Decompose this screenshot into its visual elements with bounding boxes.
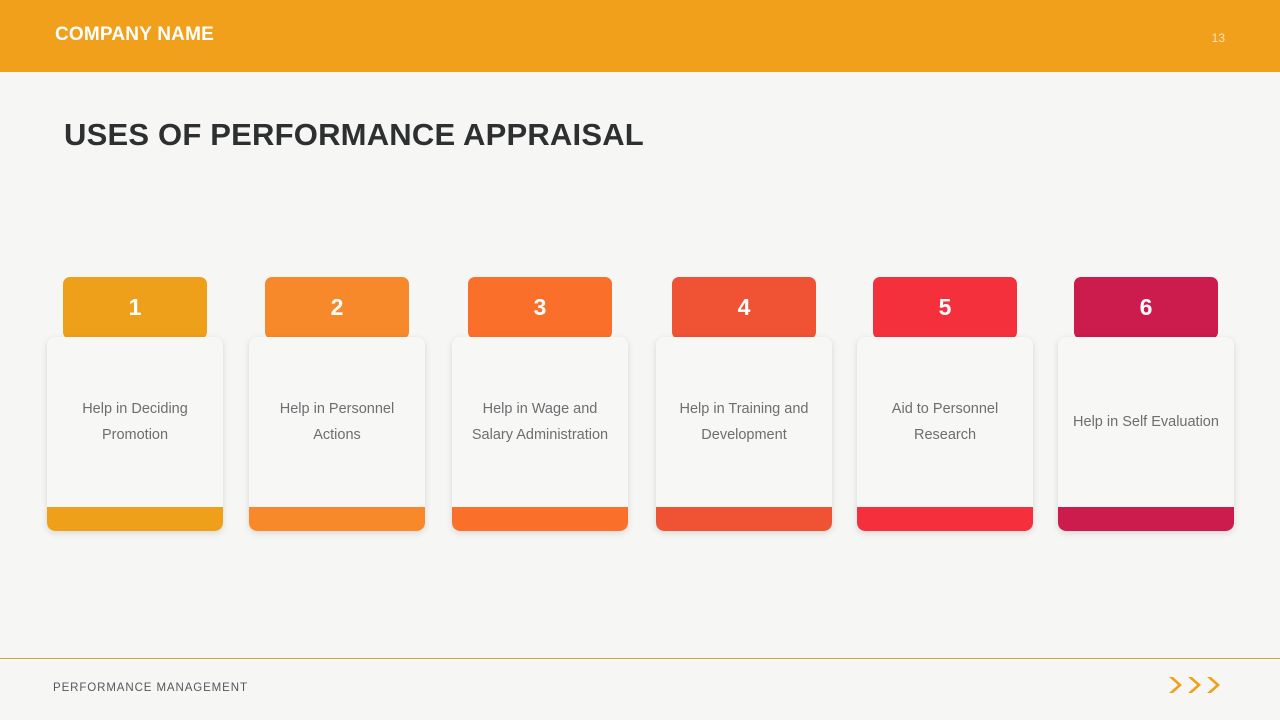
card-body: Help in Deciding Promotion [47, 337, 223, 531]
card-number: 2 [331, 296, 344, 319]
card-number-tab: 6 [1074, 277, 1218, 339]
card-number: 4 [738, 296, 751, 319]
card-body: Help in Self Evaluation [1058, 337, 1234, 531]
card-label: Help in Deciding Promotion [57, 337, 213, 507]
card-bottom-strip [857, 507, 1033, 531]
card-bottom-strip [249, 507, 425, 531]
card-number: 5 [939, 296, 952, 319]
card-number-tab: 4 [672, 277, 816, 339]
card-label: Help in Self Evaluation [1068, 337, 1224, 507]
card-item[interactable]: 2 Help in Personnel Actions [249, 277, 425, 533]
card-row: 1 Help in Deciding Promotion 2 Help in P… [47, 277, 1233, 533]
chevrons-right-icon[interactable] [1167, 672, 1223, 698]
card-label: Help in Personnel Actions [259, 337, 415, 507]
card-bottom-strip [47, 507, 223, 531]
card-number: 6 [1140, 296, 1153, 319]
card-label: Help in Wage and Salary Administration [462, 337, 618, 507]
card-item[interactable]: 6 Help in Self Evaluation [1058, 277, 1234, 533]
card-bottom-strip [1058, 507, 1234, 531]
card-body: Help in Training and Development [656, 337, 832, 531]
card-number: 1 [129, 296, 142, 319]
card-item[interactable]: 4 Help in Training and Development [656, 277, 832, 533]
card-bottom-strip [452, 507, 628, 531]
footer-label: PERFORMANCE MANAGEMENT [53, 682, 248, 694]
card-body: Help in Personnel Actions [249, 337, 425, 531]
footer-divider [0, 658, 1280, 659]
card-number-tab: 2 [265, 277, 409, 339]
card-number-tab: 1 [63, 277, 207, 339]
card-number-tab: 3 [468, 277, 612, 339]
card-number-tab: 5 [873, 277, 1017, 339]
card-body: Help in Wage and Salary Administration [452, 337, 628, 531]
card-item[interactable]: 1 Help in Deciding Promotion [47, 277, 223, 533]
card-label: Aid to Personnel Research [867, 337, 1023, 507]
page-title: USES OF PERFORMANCE APPRAISAL [64, 117, 644, 153]
card-number: 3 [534, 296, 547, 319]
company-name: COMPANY NAME [55, 24, 214, 46]
card-item[interactable]: 3 Help in Wage and Salary Administration [452, 277, 628, 533]
slide: COMPANY NAME 13 USES OF PERFORMANCE APPR… [0, 0, 1280, 720]
header-bar: COMPANY NAME 13 [0, 0, 1280, 72]
card-bottom-strip [656, 507, 832, 531]
card-item[interactable]: 5 Aid to Personnel Research [857, 277, 1033, 533]
page-number: 13 [1212, 31, 1225, 45]
card-body: Aid to Personnel Research [857, 337, 1033, 531]
card-label: Help in Training and Development [666, 337, 822, 507]
